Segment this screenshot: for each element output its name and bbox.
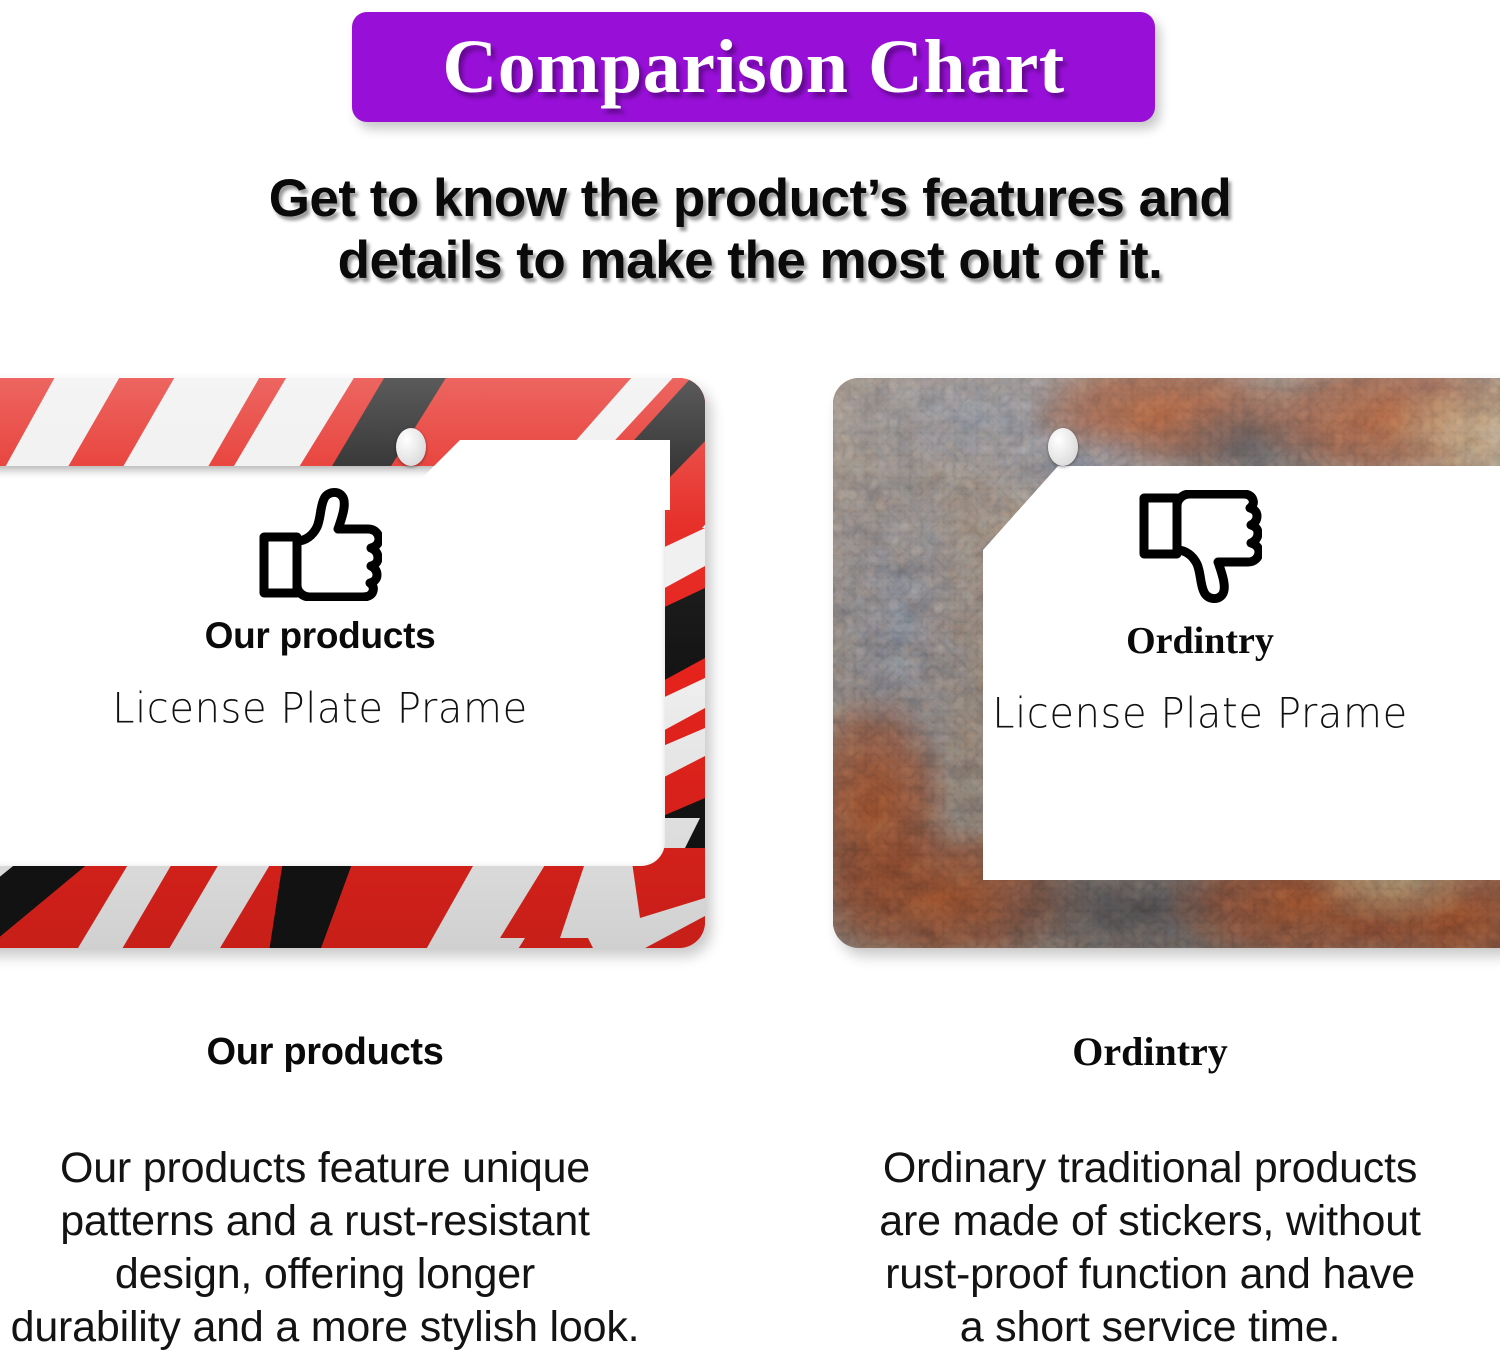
summary-text-ours: Our products feature unique patterns and… <box>0 1142 665 1354</box>
page-title: Comparison Chart <box>442 29 1064 105</box>
panel-content-ours: Our products License Plate Prame <box>0 485 640 732</box>
subtitle-line-1: Get to know the product’s features and <box>0 168 1500 230</box>
screw-hole-right <box>1048 428 1078 466</box>
summary-column-ours: Our products Our products feature unique… <box>0 1030 665 1354</box>
summary-line: Ordinary traditional products <box>810 1142 1490 1195</box>
summary-heading-ours: Our products <box>0 1030 665 1074</box>
panel-subtitle-ours: License Plate Prame <box>0 685 640 733</box>
summary-column-ordinary: Ordintry Ordinary traditional products a… <box>810 1030 1490 1354</box>
panel-subtitle-ordinary: License Plate Prame <box>880 690 1500 738</box>
summary-line: a short service time. <box>810 1301 1490 1354</box>
subtitle-line-2: details to make the most out of it. <box>0 230 1500 292</box>
thumbs-up-icon <box>258 485 382 601</box>
summary-heading-ordinary: Ordintry <box>810 1030 1490 1074</box>
summary-line: durability and a more stylish look. <box>0 1301 665 1354</box>
panel-title-ordinary: Ordintry <box>880 620 1500 662</box>
summary-line: rust-proof function and have <box>810 1248 1490 1301</box>
summary-line: design, offering longer <box>0 1248 665 1301</box>
summary-line: are made of stickers, without <box>810 1195 1490 1248</box>
summary-line: Our products feature unique <box>0 1142 665 1195</box>
thumbs-down-icon <box>1138 490 1262 606</box>
panel-content-ordinary: Ordintry License Plate Prame <box>880 490 1500 737</box>
screw-hole-left <box>396 428 426 466</box>
summary-line: patterns and a rust-resistant <box>0 1195 665 1248</box>
summary-text-ordinary: Ordinary traditional products are made o… <box>810 1142 1490 1354</box>
comparison-chart-banner: Comparison Chart <box>352 12 1155 122</box>
panel-title-ours: Our products <box>0 615 640 657</box>
subtitle: Get to know the product’s features and d… <box>0 168 1500 292</box>
